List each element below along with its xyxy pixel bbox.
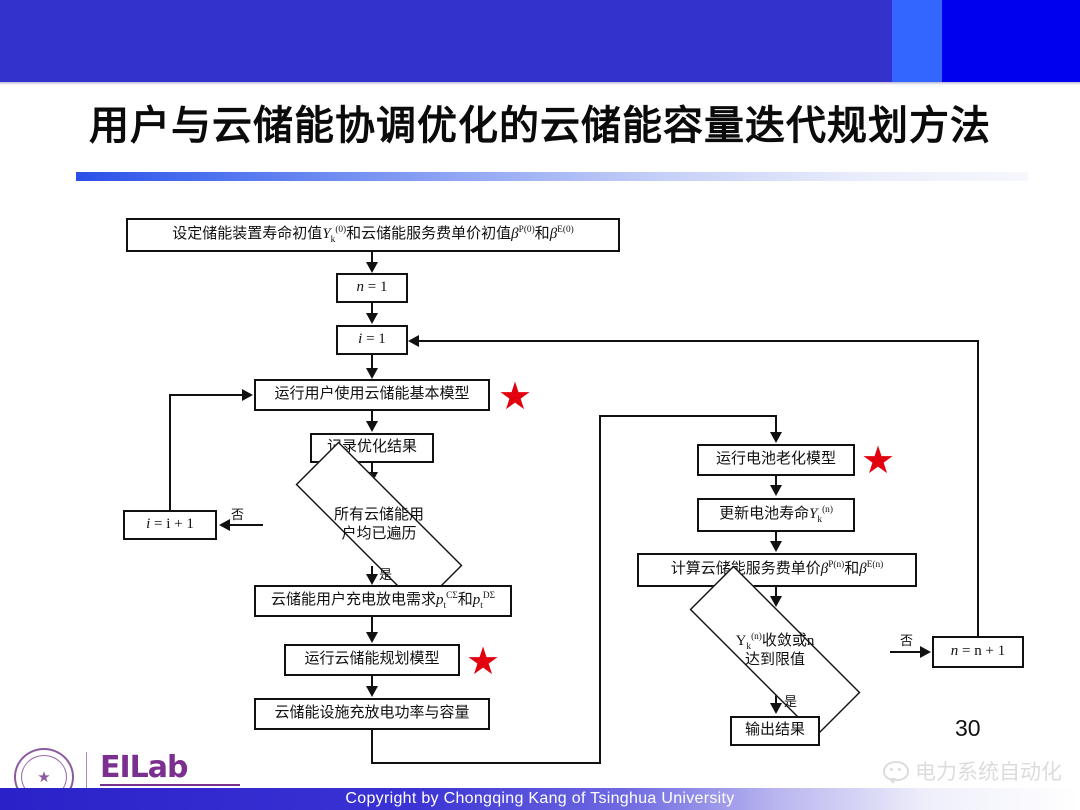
wechat-icon	[883, 761, 909, 781]
edge-n-inc-up	[977, 340, 979, 638]
node-demand-text: 云储能用户充电放电需求ptCΣ和ptDΣ	[271, 592, 495, 609]
node-facility-output[interactable]: 云储能设施充放电功率与容量	[254, 698, 490, 730]
node-calc-service-price[interactable]: 计算云储能服务费单价βP(n)和βE(n)	[637, 553, 917, 587]
var-Y: Y	[322, 226, 330, 242]
node-run-user-model[interactable]: 运行用户使用云储能基本模型	[254, 379, 490, 411]
edge-demand-to-run-plan-arrow	[366, 632, 378, 643]
node-update-life-text: 更新电池寿命Yk(n)	[719, 506, 833, 523]
edge-update-to-calc-arrow	[770, 541, 782, 552]
star-icon-battery: ★	[861, 441, 895, 479]
slide-root: 用户与云储能协调优化的云储能容量迭代规划方法 设定储能装置寿命初值Yk(0)和云…	[0, 0, 1080, 810]
node-output-text: 输出结果	[745, 722, 805, 739]
node-run-planning-model[interactable]: 运行云储能规划模型	[284, 644, 460, 676]
node-calc-price-text: 计算云储能服务费单价βP(n)和βE(n)	[671, 561, 884, 578]
node-battery-aging-model[interactable]: 运行电池老化模型	[697, 444, 855, 476]
node-n-increment[interactable]: n = n + 1	[932, 636, 1024, 668]
node-n1-text: n = 1	[357, 279, 388, 296]
decision-convergence-text: Yk(n)收敛或n达到限值	[736, 632, 815, 670]
node-i-equals-1[interactable]: i = 1	[336, 325, 408, 355]
edge-n1-to-i1-arrow	[366, 313, 378, 324]
node-i-inc-text: i = i + 1	[146, 516, 194, 533]
edge-n-inc-back-left	[419, 340, 979, 342]
edge-label-converge-yes: 是	[784, 691, 797, 710]
node-i-increment[interactable]: i = i + 1	[123, 510, 217, 540]
star-icon-run-plan: ★	[466, 642, 500, 680]
edge-to-right-column-up	[599, 415, 601, 764]
edge-run-plan-to-facility-arrow	[366, 686, 378, 697]
edge-i-inc-to-run-user	[169, 394, 243, 396]
edge-label-converge-no: 否	[900, 630, 913, 649]
eilab-wordmark: EILab	[100, 752, 240, 784]
watermark-text: 电力系统自动化	[915, 756, 1062, 786]
wechat-watermark: 电力系统自动化	[883, 756, 1062, 786]
edge-into-battery-age	[599, 415, 777, 417]
node-facility-text: 云储能设施充放电功率与容量	[274, 705, 469, 722]
edge-converge-no-arrow	[920, 646, 931, 658]
edge-i-inc-arrow	[242, 389, 253, 401]
edge-into-battery-age-arrow	[770, 432, 782, 443]
edge-n-inc-back-arrow	[408, 335, 419, 347]
node-init-text: 设定储能装置寿命初值Yk(0)和云储能服务费单价初值βP(0)和βE(0)	[172, 226, 573, 243]
copyright-text: Copyright by Chongqing Kang of Tsinghua …	[0, 788, 1080, 810]
node-run-user-text: 运行用户使用云储能基本模型	[274, 386, 469, 403]
edge-facility-down	[371, 730, 373, 764]
edge-decision-no-arrow	[219, 519, 230, 531]
node-n-equals-1[interactable]: n = 1	[336, 273, 408, 303]
edge-label-all-users-no: 否	[231, 504, 244, 523]
page-number: 30	[955, 715, 981, 742]
edge-facility-right	[371, 762, 601, 764]
decision-all-users-text: 所有云储能用户均已遍历	[334, 506, 424, 544]
node-init[interactable]: 设定储能装置寿命初值Yk(0)和云储能服务费单价初值βP(0)和βE(0)	[126, 218, 620, 252]
node-n-inc-text: n = n + 1	[951, 643, 1005, 660]
edge-init-to-n1-arrow	[366, 262, 378, 273]
edge-decision-yes-arrow	[366, 574, 378, 585]
edge-demand-to-run-plan	[371, 617, 373, 633]
node-decision-convergence[interactable]: Yk(n)收敛或n达到限值	[648, 607, 902, 695]
seal-star-icon: ★	[37, 768, 50, 786]
node-decision-all-users[interactable]: 所有云储能用户均已遍历	[255, 482, 503, 568]
edge-i1-to-run-user	[371, 355, 373, 369]
node-run-plan-text: 运行云储能规划模型	[304, 651, 439, 668]
edge-battery-to-update-arrow	[770, 485, 782, 496]
edge-label-all-users-yes: 是	[379, 564, 392, 583]
node-i1-text: i = 1	[358, 331, 386, 348]
node-battery-age-text: 运行电池老化模型	[716, 451, 836, 468]
node-output-result[interactable]: 输出结果	[730, 716, 820, 746]
edge-i-inc-up	[169, 394, 171, 511]
flowchart: 设定储能装置寿命初值Yk(0)和云储能服务费单价初值βP(0)和βE(0) n …	[0, 0, 1080, 810]
node-user-demand[interactable]: 云储能用户充电放电需求ptCΣ和ptDΣ	[254, 585, 512, 617]
edge-converge-yes-arrow	[770, 703, 782, 714]
node-update-battery-life[interactable]: 更新电池寿命Yk(n)	[697, 498, 855, 532]
star-icon-run-user: ★	[498, 377, 532, 415]
edge-i1-to-run-user-arrow	[366, 368, 378, 379]
edge-run-user-to-record-arrow	[366, 421, 378, 432]
